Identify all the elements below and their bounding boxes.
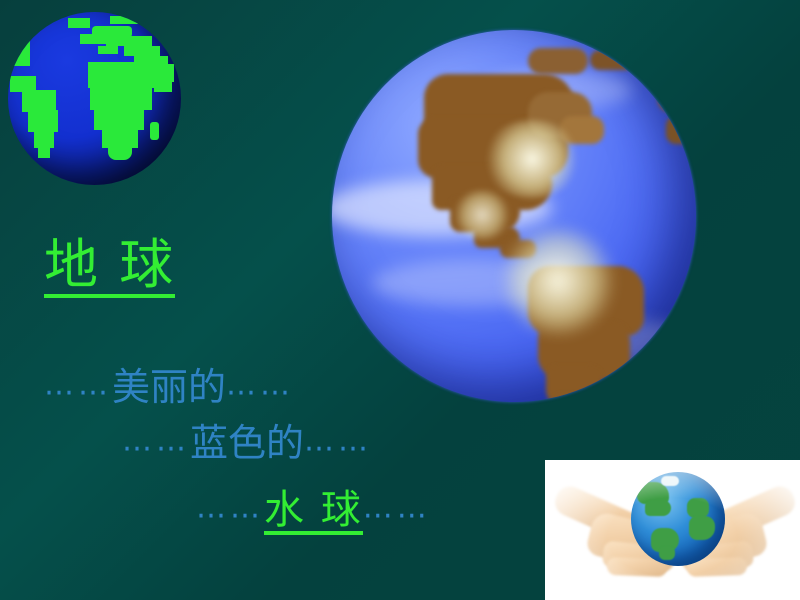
subtitle-text-3: 水 球 <box>264 490 363 535</box>
trailing-dots-2: …… <box>304 424 372 459</box>
blue-marble-globe-americas-image <box>332 30 696 402</box>
slide-title-text: 地 球 <box>44 238 175 298</box>
trailing-dots-3: …… <box>363 491 431 526</box>
subtitle-line-2: ……蓝色的…… <box>122 424 372 462</box>
slide-title: 地 球 <box>44 238 175 298</box>
trailing-dots-1: …… <box>226 368 294 403</box>
hands-holding-globe-photo <box>545 460 800 600</box>
photo-white-vignette <box>545 460 800 600</box>
leading-dots-2: …… <box>122 424 190 459</box>
leading-dots-1: …… <box>44 368 112 403</box>
subtitle-line-3: ……水 球…… <box>196 490 431 535</box>
subtitle-text-1: 美丽的 <box>112 365 226 409</box>
presentation-slide: 地 球 ……美丽的…… ……蓝色的…… ……水 球…… <box>0 0 800 600</box>
subtitle-line-1: ……美丽的…… <box>44 368 294 406</box>
leading-dots-3: …… <box>196 491 264 526</box>
subtitle-text-2: 蓝色的 <box>190 421 304 465</box>
pixel-globe-africa-image <box>8 12 181 185</box>
